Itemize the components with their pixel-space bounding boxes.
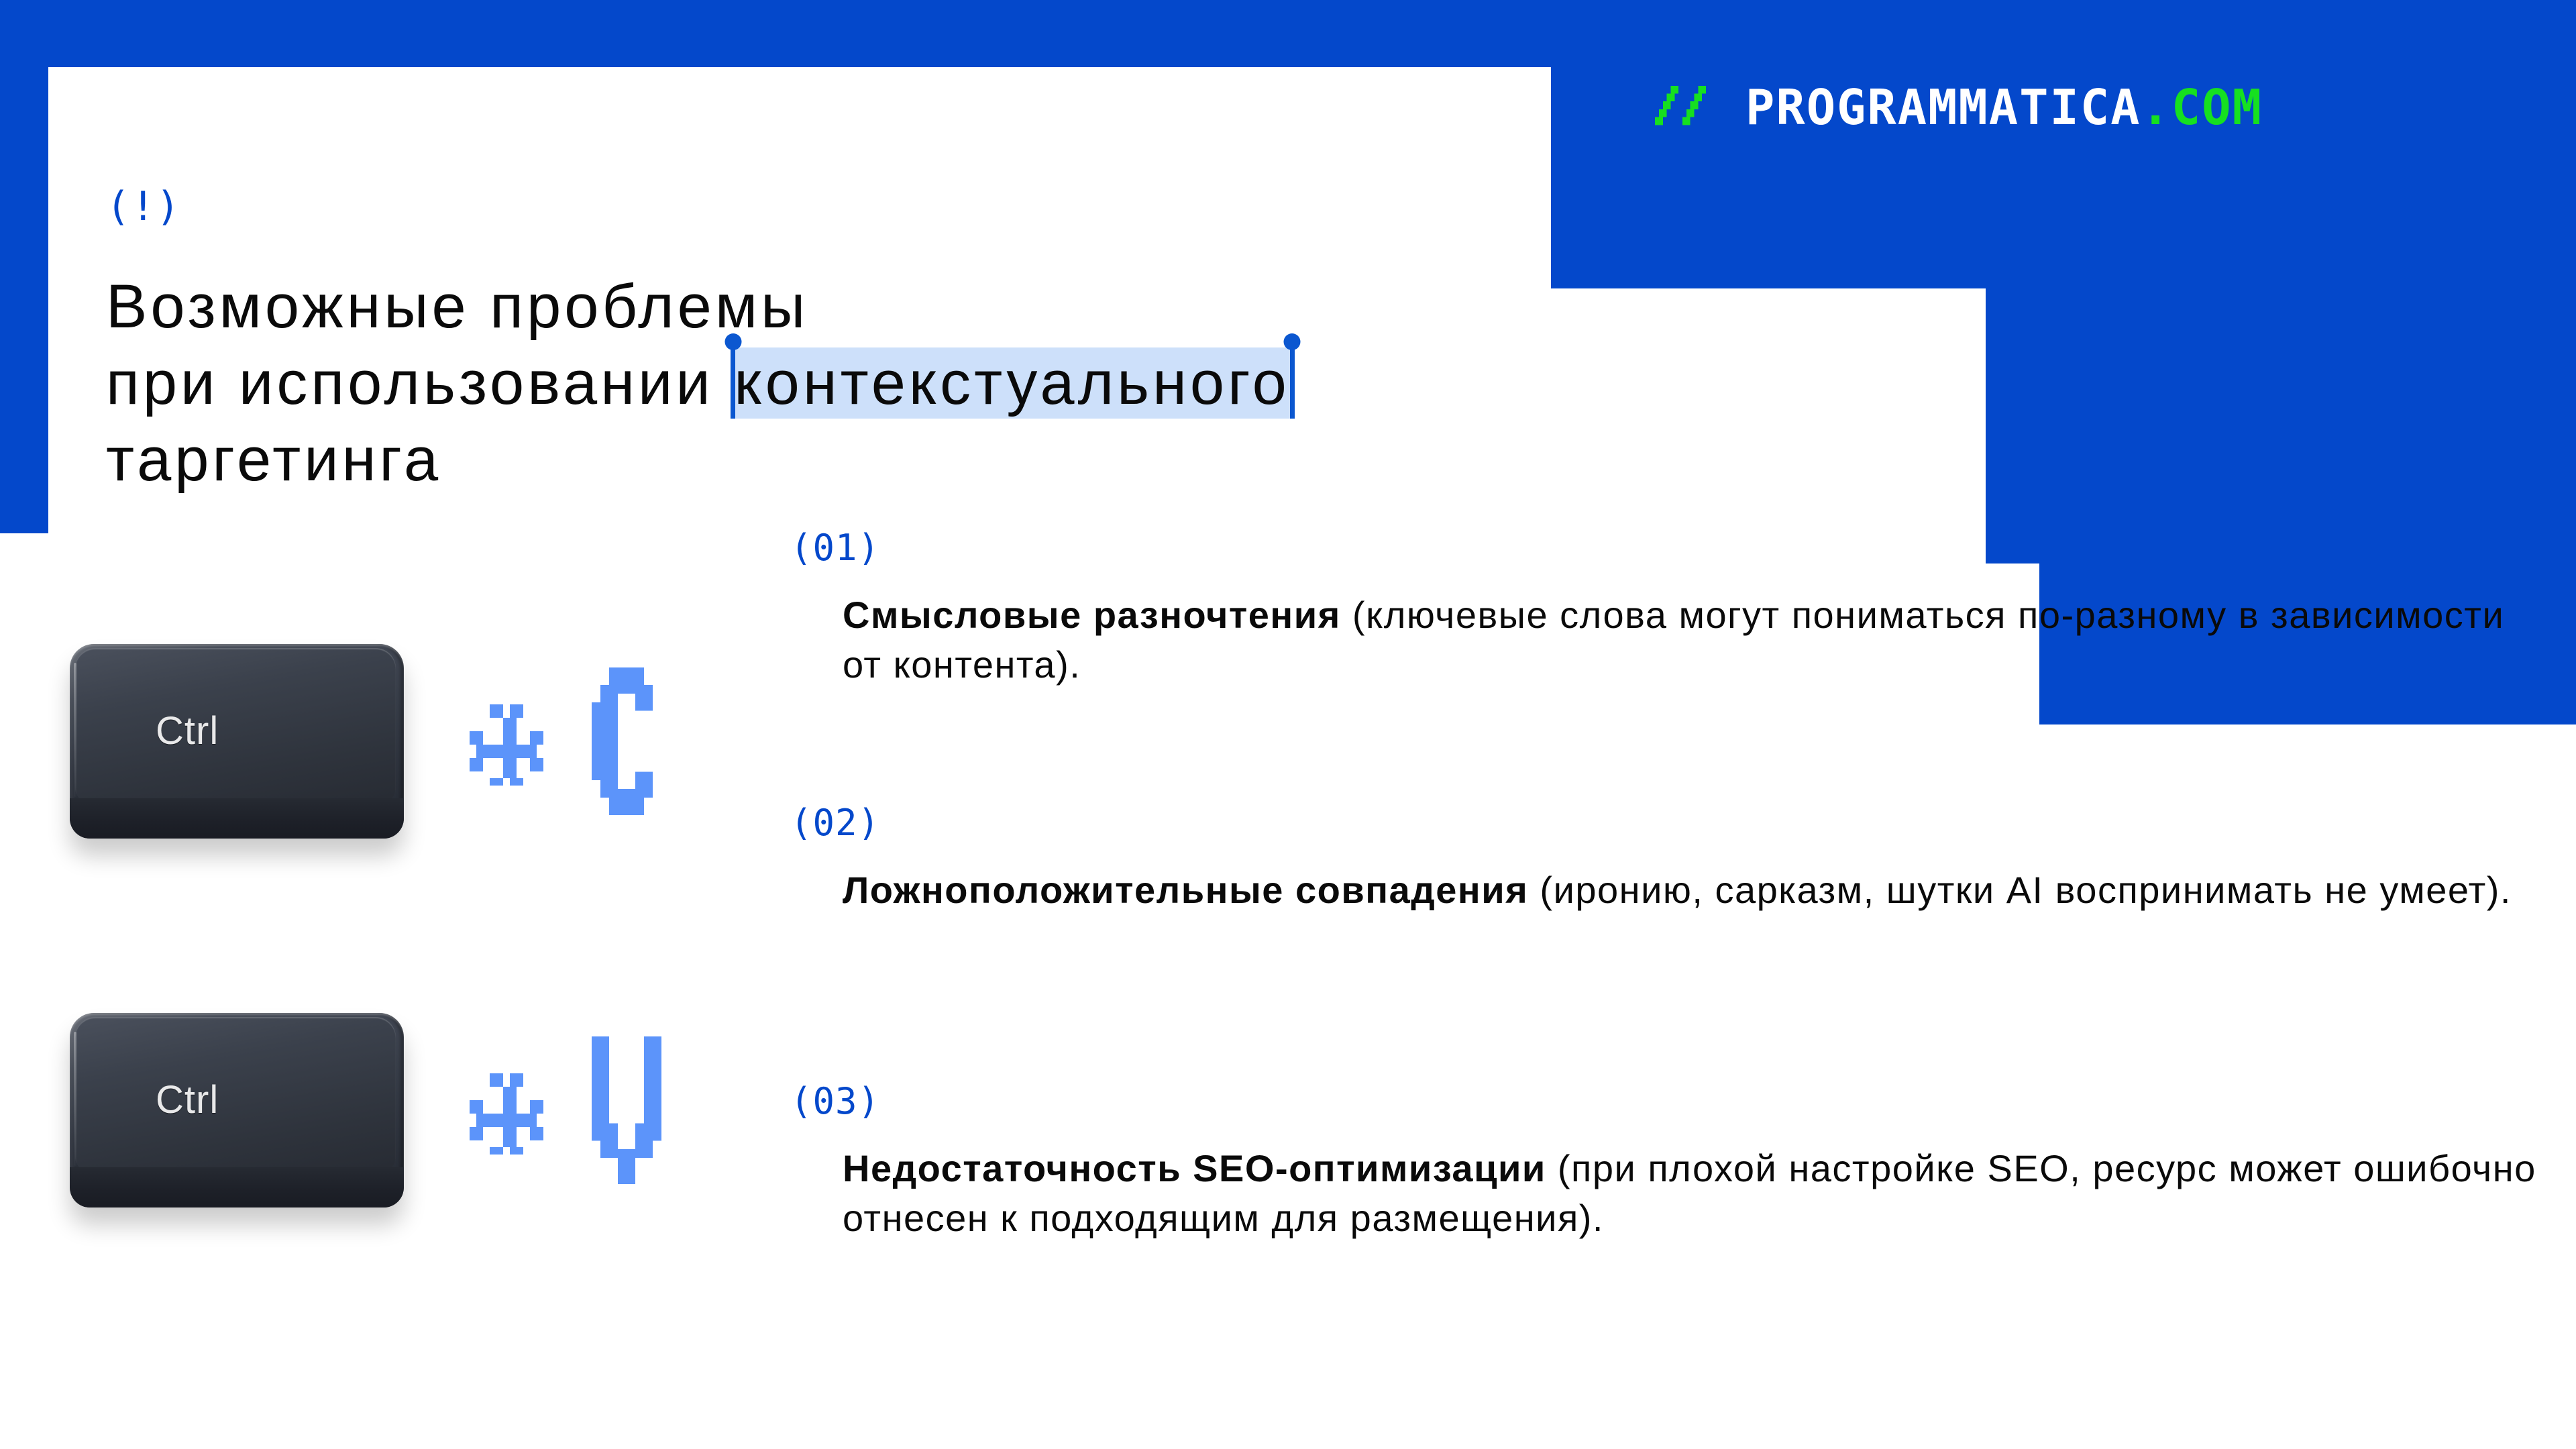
- problem-item: (03) Недостаточность SEO-оптимизации (пр…: [790, 1083, 2548, 1244]
- keycap-left-highlight: [74, 663, 76, 797]
- double-slash-icon: [1642, 82, 1723, 133]
- site-logo[interactable]: PROGRAMMATICA.COM: [1642, 80, 2263, 134]
- selection-handle-end[interactable]: [1290, 347, 1295, 419]
- item-lead: Недостаточность SEO-оптимизации: [843, 1147, 1546, 1189]
- shortcut-ctrl-c: Ctrl: [70, 644, 661, 839]
- keycap-ctrl[interactable]: Ctrl: [70, 644, 404, 839]
- item-body: Ложноположительные совпадения (иронию, с…: [843, 865, 2548, 915]
- page-title: Возможные проблемы при использовании кон…: [106, 268, 1823, 498]
- title-line-3: таргетинга: [106, 421, 1823, 498]
- keycap-ctrl[interactable]: Ctrl: [70, 1013, 404, 1207]
- selected-text[interactable]: контекстуального: [734, 347, 1289, 419]
- shortcut-ctrl-v: Ctrl: [70, 1013, 661, 1207]
- problem-item: (01) Смысловые разночтения (ключевые сло…: [790, 530, 2548, 690]
- keycap-skirt: [70, 798, 404, 839]
- item-number: (01): [790, 530, 2548, 566]
- selection-handle-start[interactable]: [731, 347, 735, 419]
- problem-item: (02) Ложноположительные совпадения (ирон…: [790, 805, 2548, 915]
- keycap-label: Ctrl: [156, 1077, 219, 1122]
- letter-v-pixel-icon: [592, 1036, 661, 1184]
- attention-marker: (!): [106, 186, 1823, 227]
- title-line-2-prefix: при использовании: [106, 349, 734, 417]
- logo-tld: .COM: [2141, 79, 2263, 136]
- keycap-skirt: [70, 1167, 404, 1207]
- item-body: Смысловые разночтения (ключевые слова мо…: [843, 590, 2548, 690]
- item-number: (02): [790, 805, 2548, 841]
- title-line-1: Возможные проблемы: [106, 268, 1823, 345]
- item-body: Недостаточность SEO-оптимизации (при пло…: [843, 1144, 2548, 1244]
- plus-pixel-icon: [463, 1066, 550, 1155]
- plus-pixel-icon: [463, 697, 550, 786]
- headline-block: (!) Возможные проблемы при использовании…: [106, 186, 1823, 539]
- keycap-label: Ctrl: [156, 708, 219, 753]
- logo-wordmark: PROGRAMMATICA: [1746, 79, 2141, 136]
- letter-c-pixel-icon: [592, 667, 661, 815]
- keycap-face: [75, 648, 396, 804]
- keycap-left-highlight: [74, 1032, 76, 1166]
- item-lead: Ложноположительные совпадения: [843, 869, 1528, 911]
- item-number: (03): [790, 1083, 2548, 1120]
- selected-text-label: контекстуального: [734, 349, 1289, 417]
- item-rest: (иронию, сарказм, шутки AI воспринимать …: [1528, 869, 2512, 911]
- item-lead: Смысловые разночтения: [843, 594, 1341, 636]
- keycap-face: [75, 1017, 396, 1173]
- title-line-2: при использовании контекстуального: [106, 345, 1823, 421]
